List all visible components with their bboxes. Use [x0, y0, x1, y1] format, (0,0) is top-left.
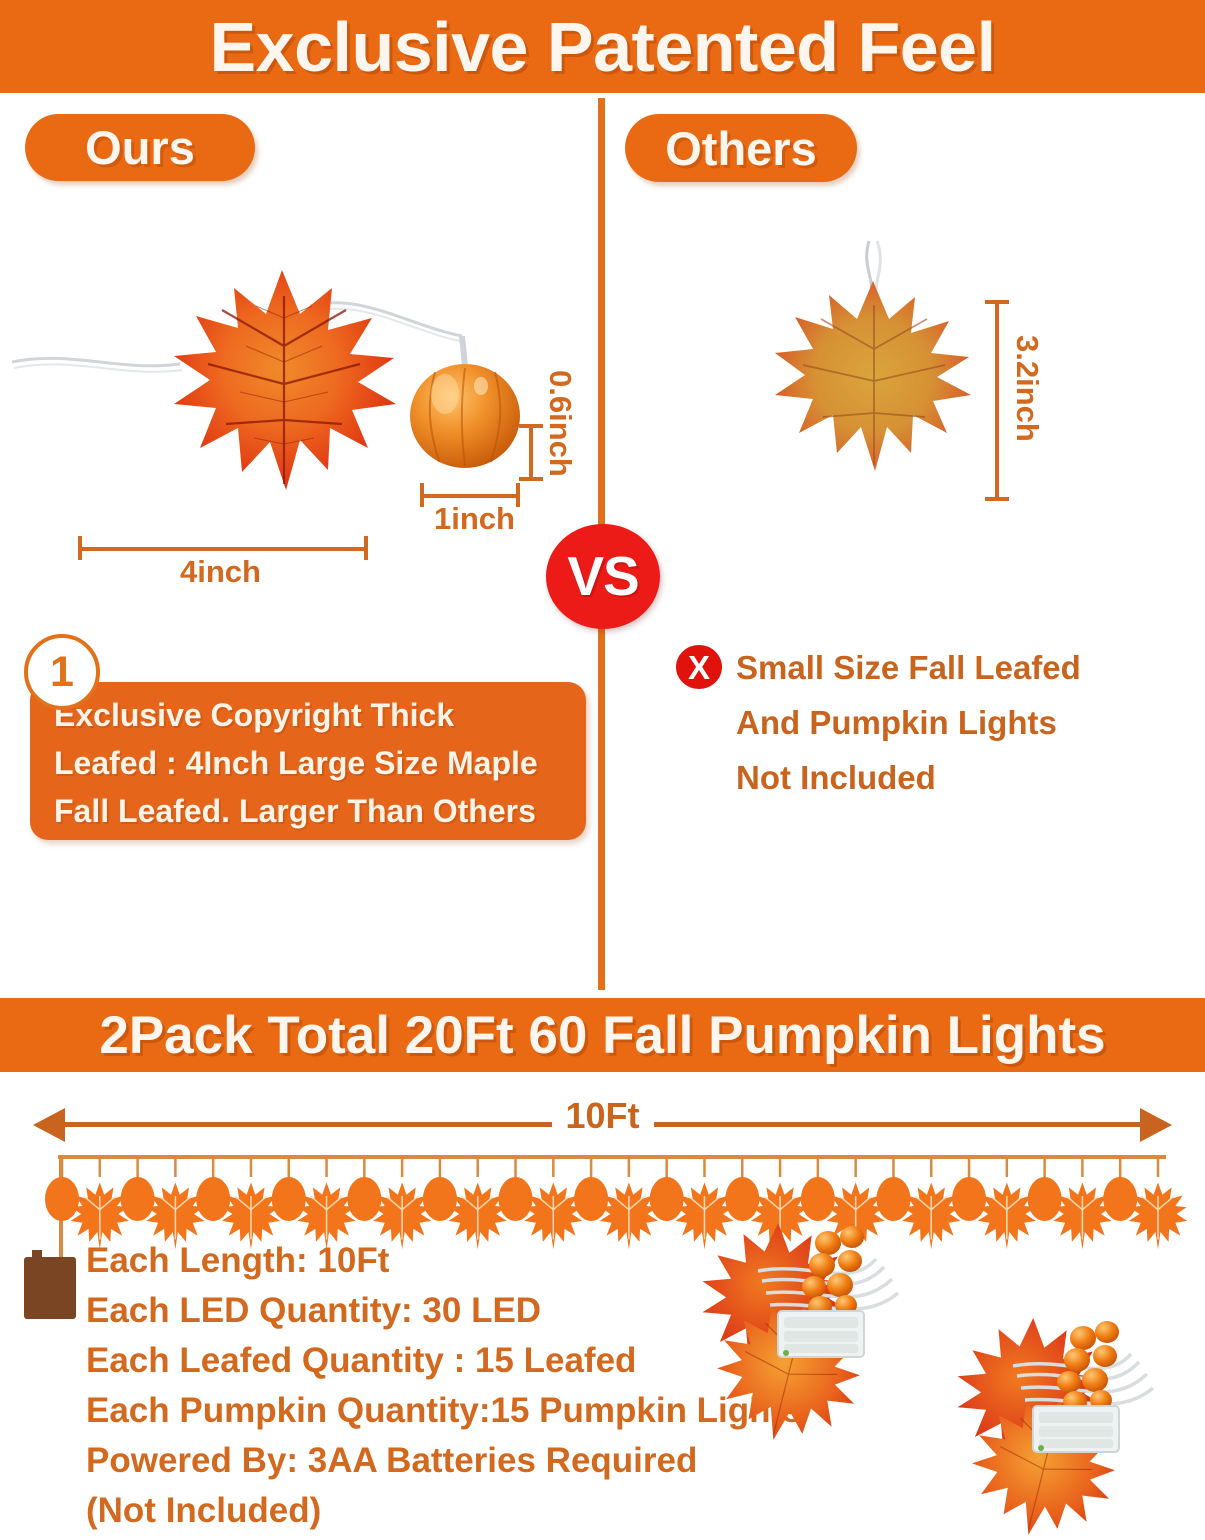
label-pill-ours: Ours [25, 114, 255, 181]
top-banner: Exclusive Patented Feel [0, 0, 1205, 93]
pumpkin-icon [196, 1177, 230, 1221]
feature-line: Exclusive Copyright Thick [54, 692, 586, 738]
dim-label-leaf-width: 4inch [180, 556, 261, 587]
dim-cap-right-4inch [364, 536, 368, 560]
label-pill-others: Others [625, 114, 857, 182]
feature-number-text: 1 [50, 651, 74, 694]
dim-line-32inch [995, 300, 999, 500]
con-line: Small Size Fall Leafed [736, 640, 1196, 695]
feature-number-badge: 1 [24, 634, 100, 710]
pumpkin-icon [45, 1177, 79, 1221]
length-arrow-label: 10Ft [551, 1098, 653, 1134]
con-line: And Pumpkin Lights [736, 695, 1196, 750]
label-pill-ours-text: Ours [85, 124, 195, 171]
arrow-left-icon [33, 1108, 65, 1142]
pumpkin-icon [423, 1177, 457, 1221]
pumpkin-icon [650, 1177, 684, 1221]
dim-cap-right-1inch [516, 483, 520, 507]
dim-line-06inch [529, 424, 533, 480]
dim-label-pumpkin-height: 0.6inch [545, 370, 576, 477]
product-bundle-photo-1 [700, 1215, 980, 1445]
pumpkin-icon [272, 1177, 306, 1221]
pumpkin-icon [121, 1177, 155, 1221]
dim-cap-bottom-32inch [985, 497, 1009, 501]
product-photo-others [765, 235, 985, 485]
pumpkin-icon [1103, 1177, 1137, 1221]
label-pill-others-text: Others [665, 125, 817, 172]
dim-label-others-leaf-height: 3.2inch [1012, 335, 1043, 442]
feature-callout-box: Exclusive Copyright Thick Leafed : 4Inch… [30, 682, 586, 840]
arrow-right-icon [1140, 1108, 1172, 1142]
maple-leaf-icon [1053, 1182, 1111, 1249]
others-con-list: Small Size Fall Leafed And Pumpkin Light… [736, 640, 1196, 805]
page-title: Exclusive Patented Feel [209, 12, 995, 82]
spec-line: (Not Included) [86, 1486, 906, 1536]
cross-mark-text: X [688, 651, 710, 684]
pumpkin-icon [347, 1177, 381, 1221]
feature-line: Leafed : 4Inch Large Size Maple [54, 740, 586, 786]
infographic-canvas: Exclusive Patented Feel Ours Others VS [0, 0, 1205, 1500]
con-line: Not Included [736, 750, 1196, 805]
pumpkin-icon [574, 1177, 608, 1221]
dim-label-pumpkin-width: 1inch [434, 503, 515, 534]
maple-leaf-icon [978, 1182, 1036, 1249]
pumpkin-icon [1028, 1177, 1062, 1221]
cross-mark-icon: X [676, 645, 722, 689]
length-arrow-row: 10Ft [0, 1096, 1205, 1150]
bottom-banner-title: 2Pack Total 20Ft 60 Fall Pumpkin Lights [99, 1009, 1105, 1062]
product-bundle-photo-2 [955, 1310, 1205, 1540]
bottom-banner: 2Pack Total 20Ft 60 Fall Pumpkin Lights [0, 998, 1205, 1072]
feature-line: Fall Leafed. Larger Than Others [54, 788, 586, 834]
battery-box-icon [24, 1257, 76, 1319]
dim-line-1inch [420, 494, 520, 498]
maple-leaf-icon [1129, 1182, 1187, 1249]
dim-cap-bottom-06inch [519, 477, 543, 481]
vs-badge-text: VS [567, 549, 638, 604]
dim-line-4inch [78, 547, 368, 551]
pumpkin-icon [499, 1177, 533, 1221]
